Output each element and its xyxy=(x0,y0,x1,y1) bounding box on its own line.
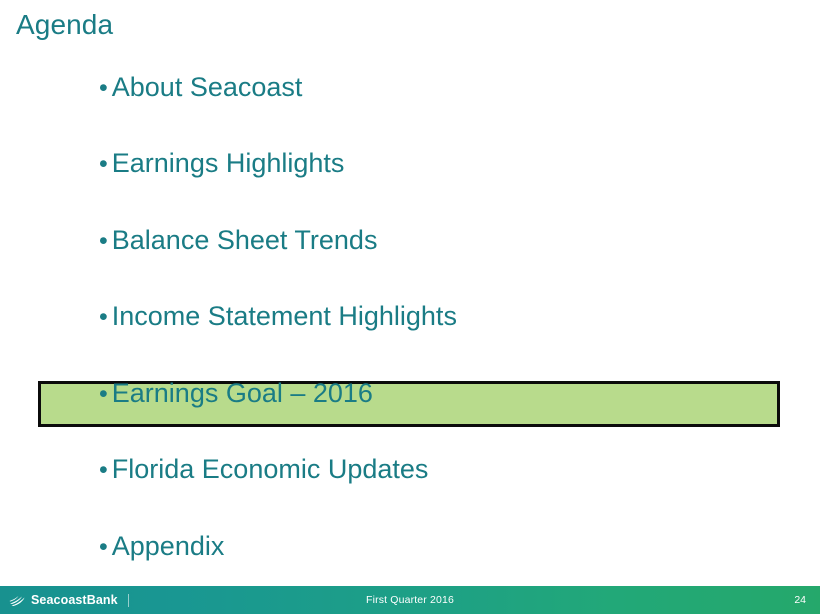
bullet-dot-icon: • xyxy=(99,535,108,560)
agenda-row: • Income Statement Highlights xyxy=(0,291,820,343)
list-item-label: Earnings Highlights xyxy=(112,148,345,179)
bullet-dot-icon: • xyxy=(99,152,108,177)
agenda-row: • Balance Sheet Trends xyxy=(0,215,820,267)
slide-canvas: Agenda • About Seacoast • Earnings Highl… xyxy=(0,0,820,614)
agenda-row-highlighted: • Florida Economic Updates xyxy=(0,444,820,496)
bullet-dot-icon: • xyxy=(99,382,108,407)
list-item-florida-economic-updates[interactable]: • Florida Economic Updates xyxy=(0,454,428,485)
list-item-earnings-goal-2016[interactable]: • Earnings Goal – 2016 xyxy=(0,378,373,409)
bullet-dot-icon: • xyxy=(99,229,108,254)
list-item-label: About Seacoast xyxy=(112,72,303,103)
agenda-row: • Earnings Highlights xyxy=(0,138,820,190)
agenda-list: • About Seacoast • Earnings Highlights •… xyxy=(0,62,820,572)
page-title: Agenda xyxy=(16,8,113,42)
list-item-label: Florida Economic Updates xyxy=(112,454,429,485)
list-item-income-statement-highlights[interactable]: • Income Statement Highlights xyxy=(0,301,457,332)
bullet-dot-icon: • xyxy=(99,76,108,101)
list-item-label: Income Statement Highlights xyxy=(112,301,457,332)
list-item-label: Balance Sheet Trends xyxy=(112,225,378,256)
list-item-about-seacoast[interactable]: • About Seacoast xyxy=(0,72,302,103)
footer-subtitle: First Quarter 2016 xyxy=(0,586,820,614)
agenda-row: • Earnings Goal – 2016 xyxy=(0,368,820,420)
slide-number: 24 xyxy=(794,586,806,614)
bullet-dot-icon: • xyxy=(99,458,108,483)
list-item-label: Earnings Goal – 2016 xyxy=(112,378,373,409)
agenda-row: • About Seacoast xyxy=(0,62,820,114)
agenda-row: • Appendix xyxy=(0,521,820,573)
list-item-earnings-highlights[interactable]: • Earnings Highlights xyxy=(0,148,344,179)
list-item-appendix[interactable]: • Appendix xyxy=(0,531,224,562)
list-item-label: Appendix xyxy=(112,531,225,562)
bullet-dot-icon: • xyxy=(99,305,108,330)
footer-bar: SeacoastBank First Quarter 2016 24 xyxy=(0,586,820,614)
list-item-balance-sheet-trends[interactable]: • Balance Sheet Trends xyxy=(0,225,377,256)
